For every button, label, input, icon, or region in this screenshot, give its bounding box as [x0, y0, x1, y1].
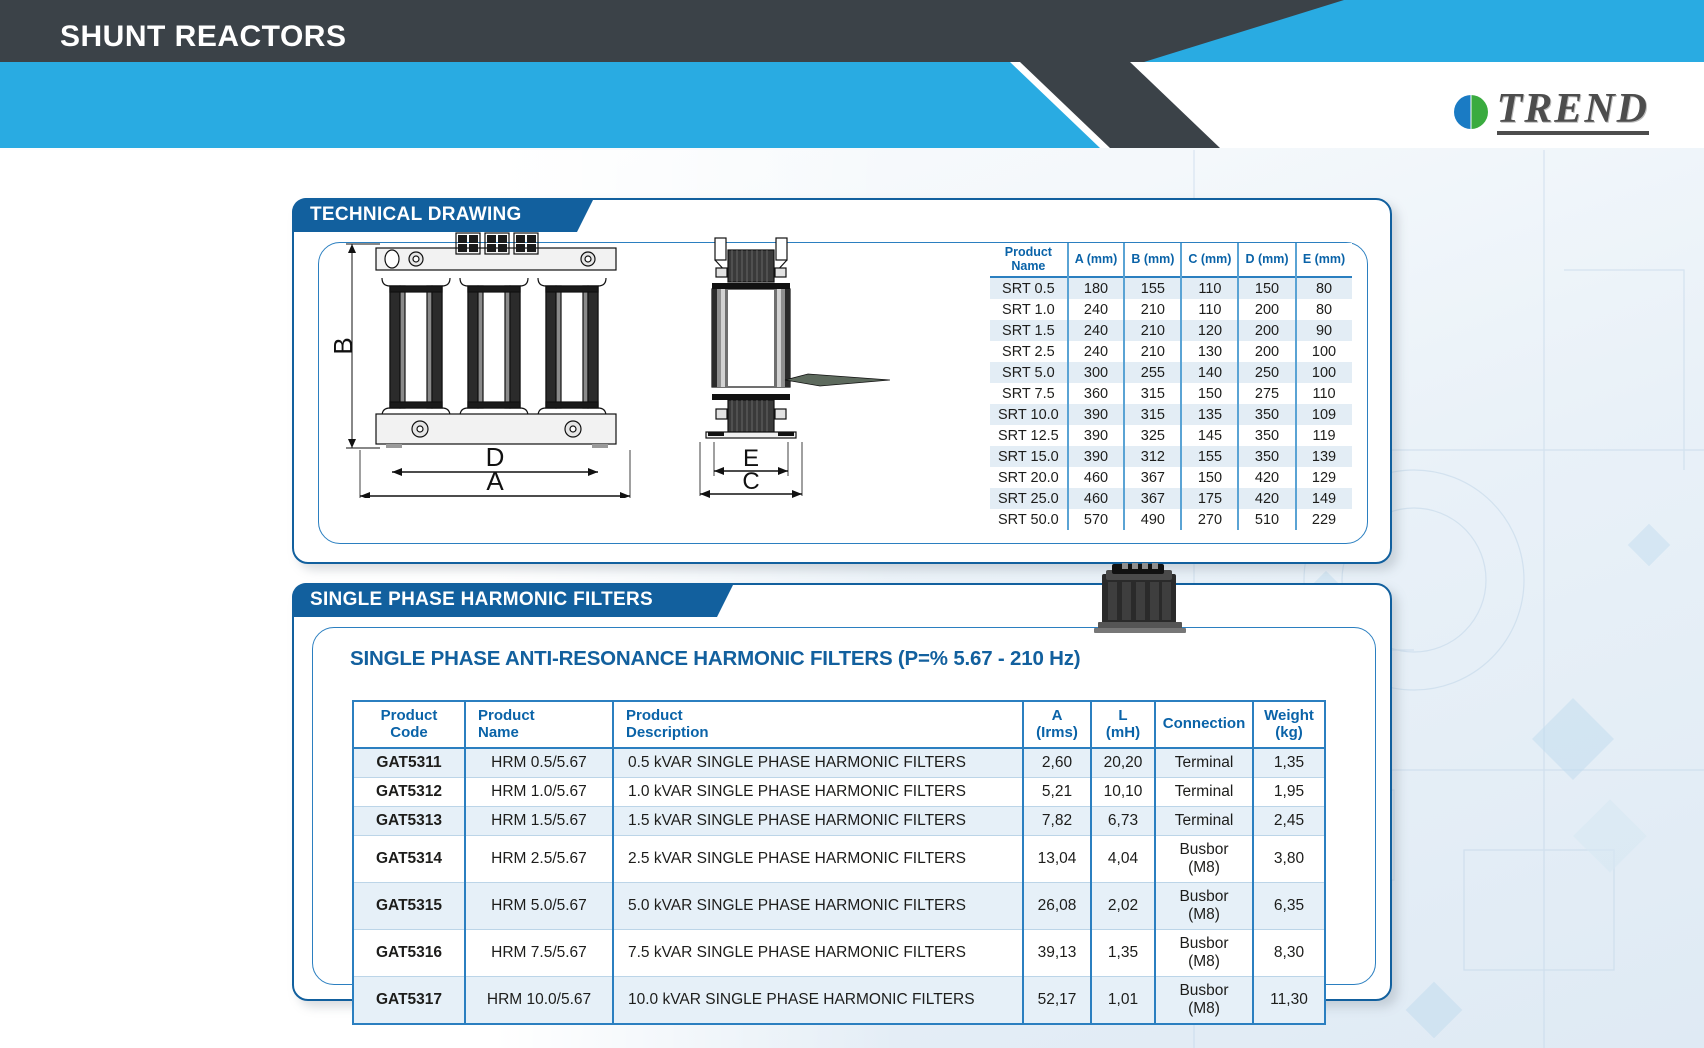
- reactor-product-photo: [1092, 560, 1187, 638]
- dim-cell-value: 210: [1124, 320, 1181, 341]
- filter-cell-inductance: 6,73: [1091, 807, 1155, 836]
- filters-table-header-row: Product Code Product Name Product Descri…: [353, 701, 1325, 748]
- dim-cell-value: 460: [1068, 488, 1125, 509]
- filter-cell-product-name: HRM 10.0/5.67: [465, 977, 613, 1025]
- filter-cell-inductance: 2,02: [1091, 883, 1155, 930]
- filter-cell-connection: Terminal: [1155, 778, 1253, 807]
- dim-cell-product-name: SRT 0.5: [990, 277, 1068, 299]
- filter-cell-product-name: HRM 5.0/5.67: [465, 883, 613, 930]
- filter-cell-product-name: HRM 7.5/5.67: [465, 930, 613, 977]
- dim-cell-value: 155: [1181, 446, 1238, 467]
- dim-cell-value: 350: [1238, 404, 1295, 425]
- table-row: SRT 12.5390325145350119: [990, 425, 1352, 446]
- dim-cell-value: 109: [1296, 404, 1352, 425]
- dim-cell-value: 145: [1181, 425, 1238, 446]
- dim-cell-value: 312: [1124, 446, 1181, 467]
- title-band-cyan: [0, 62, 1100, 148]
- dim-col-d: D (mm): [1238, 243, 1295, 277]
- filter-col-product-description: Product Description: [613, 701, 1023, 748]
- dim-cell-value: 255: [1124, 362, 1181, 383]
- trend-circle-icon: [1454, 95, 1488, 129]
- dim-cell-value: 250: [1238, 362, 1295, 383]
- filter-cell-weight: 1,95: [1253, 778, 1325, 807]
- dim-cell-product-name: SRT 1.0: [990, 299, 1068, 320]
- filter-col-current: A (Irms): [1023, 701, 1091, 748]
- dim-cell-value: 390: [1068, 425, 1125, 446]
- dim-cell-value: 150: [1181, 467, 1238, 488]
- brand-name: TREND: [1497, 88, 1649, 135]
- table-row: GAT5317HRM 10.0/5.6710.0 kVAR SINGLE PHA…: [353, 977, 1325, 1025]
- dim-cell-value: 80: [1296, 277, 1352, 299]
- table-row: GAT5315HRM 5.0/5.675.0 kVAR SINGLE PHASE…: [353, 883, 1325, 930]
- dim-cell-value: 150: [1181, 383, 1238, 404]
- dim-cell-value: 275: [1238, 383, 1295, 404]
- dim-cell-value: 139: [1296, 446, 1352, 467]
- dim-cell-value: 367: [1124, 488, 1181, 509]
- dim-cell-value: 140: [1181, 362, 1238, 383]
- filter-cell-inductance: 4,04: [1091, 836, 1155, 883]
- dimension-table: Product Name A (mm) B (mm) C (mm) D (mm)…: [990, 243, 1352, 530]
- filter-cell-weight: 11,30: [1253, 977, 1325, 1025]
- table-row: SRT 7.5360315150275110: [990, 383, 1352, 404]
- dim-cell-value: 180: [1068, 277, 1125, 299]
- filter-cell-description: 2.5 kVAR SINGLE PHASE HARMONIC FILTERS: [613, 836, 1023, 883]
- table-row: GAT5316HRM 7.5/5.677.5 kVAR SINGLE PHASE…: [353, 930, 1325, 977]
- dim-cell-product-name: SRT 15.0: [990, 446, 1068, 467]
- dim-col-e: E (mm): [1296, 243, 1352, 277]
- filter-col-connection: Connection: [1155, 701, 1253, 748]
- filter-cell-weight: 6,35: [1253, 883, 1325, 930]
- filter-cell-product-code: GAT5315: [353, 883, 465, 930]
- filter-cell-connection: Terminal: [1155, 807, 1253, 836]
- filter-cell-connection: Busbor (M8): [1155, 930, 1253, 977]
- dim-col-product-name: Product Name: [990, 243, 1068, 277]
- dim-cell-value: 300: [1068, 362, 1125, 383]
- harmonic-filters-subtitle: SINGLE PHASE ANTI-RESONANCE HARMONIC FIL…: [350, 647, 1080, 671]
- filter-cell-product-code: GAT5312: [353, 778, 465, 807]
- dim-cell-value: 240: [1068, 299, 1125, 320]
- page-title: SHUNT REACTORS: [60, 20, 346, 54]
- filter-cell-current: 26,08: [1023, 883, 1091, 930]
- dim-cell-product-name: SRT 12.5: [990, 425, 1068, 446]
- dim-cell-value: 90: [1296, 320, 1352, 341]
- filter-col-product-name: Product Name: [465, 701, 613, 748]
- dim-cell-value: 350: [1238, 425, 1295, 446]
- dim-cell-value: 390: [1068, 404, 1125, 425]
- dim-cell-value: 490: [1124, 509, 1181, 530]
- dim-cell-value: 420: [1238, 488, 1295, 509]
- filter-col-inductance: L (mH): [1091, 701, 1155, 748]
- dim-cell-value: 155: [1124, 277, 1181, 299]
- dim-cell-value: 200: [1238, 320, 1295, 341]
- datasheet-page: SHUNT REACTORS TREND TECHNICAL DRAWING: [0, 0, 1704, 1048]
- dim-cell-product-name: SRT 25.0: [990, 488, 1068, 509]
- svg-text:A: A: [486, 466, 504, 496]
- table-row: SRT 15.0390312155350139: [990, 446, 1352, 467]
- dim-cell-value: 200: [1238, 341, 1295, 362]
- brand-logo: TREND: [1454, 88, 1649, 135]
- filter-cell-current: 52,17: [1023, 977, 1091, 1025]
- filter-cell-product-code: GAT5313: [353, 807, 465, 836]
- dim-cell-product-name: SRT 2.5: [990, 341, 1068, 362]
- dim-cell-value: 229: [1296, 509, 1352, 530]
- filter-cell-product-name: HRM 2.5/5.67: [465, 836, 613, 883]
- dim-cell-value: 135: [1181, 404, 1238, 425]
- dim-cell-value: 460: [1068, 467, 1125, 488]
- filter-cell-product-code: GAT5314: [353, 836, 465, 883]
- filter-cell-description: 1.5 kVAR SINGLE PHASE HARMONIC FILTERS: [613, 807, 1023, 836]
- dim-cell-value: 110: [1296, 383, 1352, 404]
- dim-cell-value: 360: [1068, 383, 1125, 404]
- dim-col-c: C (mm): [1181, 243, 1238, 277]
- dim-cell-product-name: SRT 7.5: [990, 383, 1068, 404]
- dim-cell-value: 390: [1068, 446, 1125, 467]
- dim-cell-value: 240: [1068, 341, 1125, 362]
- table-row: GAT5311HRM 0.5/5.670.5 kVAR SINGLE PHASE…: [353, 748, 1325, 778]
- filter-cell-connection: Terminal: [1155, 748, 1253, 778]
- filter-col-product-code: Product Code: [353, 701, 465, 748]
- dim-cell-product-name: SRT 50.0: [990, 509, 1068, 530]
- filter-cell-current: 2,60: [1023, 748, 1091, 778]
- dim-cell-value: 420: [1238, 467, 1295, 488]
- filter-cell-product-name: HRM 0.5/5.67: [465, 748, 613, 778]
- dim-cell-value: 175: [1181, 488, 1238, 509]
- filter-cell-weight: 2,45: [1253, 807, 1325, 836]
- filter-cell-connection: Busbor (M8): [1155, 977, 1253, 1025]
- dim-cell-value: 350: [1238, 446, 1295, 467]
- dim-cell-value: 210: [1124, 341, 1181, 362]
- filter-cell-inductance: 20,20: [1091, 748, 1155, 778]
- table-row: SRT 0.518015511015080: [990, 277, 1352, 299]
- filter-cell-description: 10.0 kVAR SINGLE PHASE HARMONIC FILTERS: [613, 977, 1023, 1025]
- filter-cell-description: 5.0 kVAR SINGLE PHASE HARMONIC FILTERS: [613, 883, 1023, 930]
- dim-cell-value: 130: [1181, 341, 1238, 362]
- dim-cell-product-name: SRT 20.0: [990, 467, 1068, 488]
- table-row: SRT 1.024021011020080: [990, 299, 1352, 320]
- harmonic-filters-table: Product Code Product Name Product Descri…: [352, 700, 1326, 1025]
- dim-cell-value: 80: [1296, 299, 1352, 320]
- table-row: SRT 5.0300255140250100: [990, 362, 1352, 383]
- filter-cell-inductance: 1,01: [1091, 977, 1155, 1025]
- technical-drawing-header: TECHNICAL DRAWING: [292, 198, 577, 232]
- filter-cell-inductance: 10,10: [1091, 778, 1155, 807]
- harmonic-filters-header: SINGLE PHASE HARMONIC FILTERS: [292, 583, 717, 617]
- filter-cell-product-code: GAT5317: [353, 977, 465, 1025]
- table-row: SRT 25.0460367175420149: [990, 488, 1352, 509]
- dim-cell-value: 119: [1296, 425, 1352, 446]
- dim-cell-value: 315: [1124, 404, 1181, 425]
- filter-cell-product-code: GAT5316: [353, 930, 465, 977]
- dim-cell-value: 110: [1181, 277, 1238, 299]
- dim-cell-value: 110: [1181, 299, 1238, 320]
- table-row: GAT5313HRM 1.5/5.671.5 kVAR SINGLE PHASE…: [353, 807, 1325, 836]
- dim-cell-value: 150: [1238, 277, 1295, 299]
- title-band: [0, 62, 1704, 148]
- dim-cell-value: 100: [1296, 362, 1352, 383]
- filter-cell-current: 7,82: [1023, 807, 1091, 836]
- filter-cell-description: 1.0 kVAR SINGLE PHASE HARMONIC FILTERS: [613, 778, 1023, 807]
- dim-cell-value: 325: [1124, 425, 1181, 446]
- filter-cell-weight: 3,80: [1253, 836, 1325, 883]
- dim-cell-value: 367: [1124, 467, 1181, 488]
- dim-cell-value: 210: [1124, 299, 1181, 320]
- reactor-engineering-drawing: B D A E C: [330, 228, 890, 498]
- filter-cell-product-name: HRM 1.5/5.67: [465, 807, 613, 836]
- filter-cell-current: 39,13: [1023, 930, 1091, 977]
- table-row: GAT5314HRM 2.5/5.672.5 kVAR SINGLE PHASE…: [353, 836, 1325, 883]
- dim-cell-value: 270: [1181, 509, 1238, 530]
- svg-text:B: B: [330, 337, 358, 354]
- dim-col-a: A (mm): [1068, 243, 1125, 277]
- dim-cell-value: 510: [1238, 509, 1295, 530]
- dim-cell-product-name: SRT 10.0: [990, 404, 1068, 425]
- table-row: SRT 2.5240210130200100: [990, 341, 1352, 362]
- dim-cell-value: 149: [1296, 488, 1352, 509]
- filter-cell-inductance: 1,35: [1091, 930, 1155, 977]
- dim-cell-value: 200: [1238, 299, 1295, 320]
- filter-cell-connection: Busbor (M8): [1155, 883, 1253, 930]
- table-row: SRT 20.0460367150420129: [990, 467, 1352, 488]
- table-row: SRT 1.524021012020090: [990, 320, 1352, 341]
- dim-cell-product-name: SRT 5.0: [990, 362, 1068, 383]
- filter-cell-product-code: GAT5311: [353, 748, 465, 778]
- table-row: GAT5312HRM 1.0/5.671.0 kVAR SINGLE PHASE…: [353, 778, 1325, 807]
- filter-cell-current: 5,21: [1023, 778, 1091, 807]
- table-row: SRT 50.0570490270510229: [990, 509, 1352, 530]
- svg-text:C: C: [742, 468, 759, 495]
- dim-cell-value: 240: [1068, 320, 1125, 341]
- filter-cell-weight: 1,35: [1253, 748, 1325, 778]
- filter-cell-weight: 8,30: [1253, 930, 1325, 977]
- dimension-table-header-row: Product Name A (mm) B (mm) C (mm) D (mm)…: [990, 243, 1352, 277]
- filter-cell-connection: Busbor (M8): [1155, 836, 1253, 883]
- filter-cell-product-name: HRM 1.0/5.67: [465, 778, 613, 807]
- dim-cell-value: 129: [1296, 467, 1352, 488]
- filter-cell-current: 13,04: [1023, 836, 1091, 883]
- dim-cell-value: 120: [1181, 320, 1238, 341]
- dim-cell-value: 315: [1124, 383, 1181, 404]
- filter-cell-description: 0.5 kVAR SINGLE PHASE HARMONIC FILTERS: [613, 748, 1023, 778]
- dim-cell-value: 100: [1296, 341, 1352, 362]
- filter-cell-description: 7.5 kVAR SINGLE PHASE HARMONIC FILTERS: [613, 930, 1023, 977]
- filter-col-weight: Weight (kg): [1253, 701, 1325, 748]
- dim-cell-value: 570: [1068, 509, 1125, 530]
- dim-cell-product-name: SRT 1.5: [990, 320, 1068, 341]
- dim-col-b: B (mm): [1124, 243, 1181, 277]
- table-row: SRT 10.0390315135350109: [990, 404, 1352, 425]
